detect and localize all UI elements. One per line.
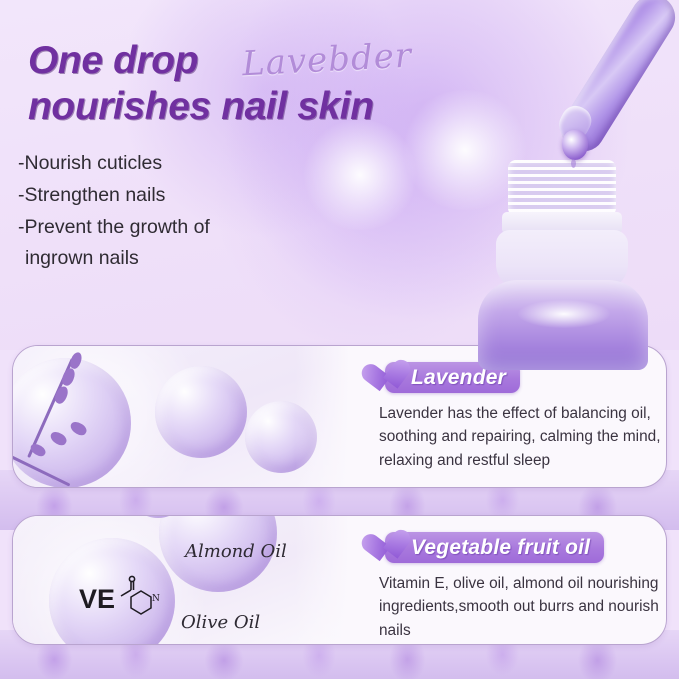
oil-molecule-image: VE N Almond Oil Olive Oil [13, 516, 365, 644]
dropper-pipette [498, 0, 679, 188]
info-card-vegetable-fruit-oil: VE N Almond Oil Olive Oil Vegetable fr [12, 515, 667, 645]
list-item: -Nourish cuticles [18, 148, 210, 180]
description-text: Vitamin E, olive oil, almond oil nourish… [379, 572, 667, 642]
heart-icon [368, 531, 406, 566]
molecule-diagram: N [117, 574, 151, 612]
image-fade [295, 346, 365, 487]
list-item: ingrown nails [18, 243, 210, 275]
badge-pill: Vegetable fruit oil [385, 532, 604, 563]
badge-label: Vegetable fruit oil [411, 536, 590, 560]
molecule-label-ve: VE [79, 584, 115, 615]
list-item: -Strengthen nails [18, 180, 210, 212]
water-bubble [155, 366, 247, 458]
lavender-bubbles-image [13, 346, 365, 487]
almond-oil-label: Almond Oil [185, 541, 287, 562]
olive-oil-label: Olive Oil [181, 612, 260, 633]
description-text: Lavender has the effect of balancing oil… [379, 402, 667, 472]
molecule-atom-label: N [152, 594, 160, 604]
benefit-list: -Nourish cuticles -Strengthen nails -Pre… [18, 148, 210, 275]
bottle-highlight [518, 300, 610, 328]
heart-icon [368, 361, 406, 396]
vegetable-oil-description: Vitamin E, olive oil, almond oil nourish… [379, 572, 667, 642]
serum-bottle [470, 160, 679, 360]
liquid-drop [562, 130, 588, 160]
product-infographic: One drop nourishes nail skin Lavebder -N… [0, 0, 679, 679]
headline-line-2: nourishes nail skin [28, 84, 498, 130]
list-item: -Prevent the growth of [18, 212, 210, 244]
lavender-description: Lavender has the effect of balancing oil… [379, 402, 667, 472]
image-fade [295, 516, 365, 644]
vegetable-oil-card-text: Vegetable fruit oil Vitamin E, olive oil… [376, 516, 667, 644]
